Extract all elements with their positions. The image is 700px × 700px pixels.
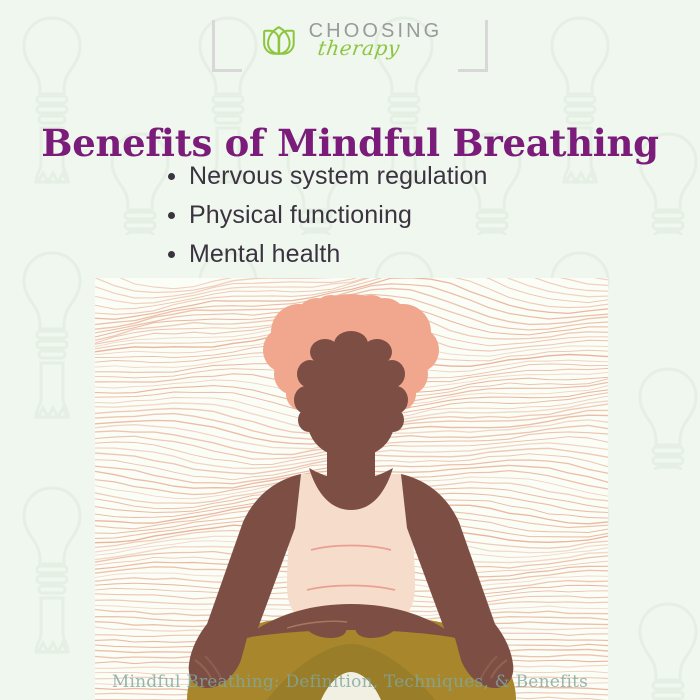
logo-word-therapy: therapy bbox=[316, 38, 401, 58]
bracket-left-horizontal bbox=[212, 69, 242, 72]
infographic-canvas: CHOOSING therapy Benefits of Mindful Bre… bbox=[0, 0, 700, 700]
list-item-label: Nervous system regulation bbox=[189, 160, 487, 193]
meditation-illustration bbox=[95, 278, 608, 700]
list-item-label: Mental health bbox=[189, 238, 340, 271]
benefits-list: Nervous system regulation Physical funct… bbox=[168, 160, 487, 277]
bullet-dot-icon bbox=[168, 173, 175, 180]
list-item: Physical functioning bbox=[168, 199, 487, 232]
logo-block[interactable]: CHOOSING therapy bbox=[224, 18, 477, 60]
image-caption: Mindful Breathing: Definition, Technique… bbox=[0, 672, 700, 692]
list-item: Nervous system regulation bbox=[168, 160, 487, 193]
list-item: Mental health bbox=[168, 238, 487, 271]
bracket-left-vertical bbox=[212, 20, 215, 72]
bullet-dot-icon bbox=[168, 251, 175, 258]
bracket-right-vertical bbox=[485, 20, 488, 72]
bracket-left-decoration bbox=[212, 20, 244, 72]
logo-wordmark: CHOOSING therapy bbox=[309, 21, 443, 58]
bracket-right-horizontal bbox=[458, 69, 488, 72]
bracket-right-decoration bbox=[456, 20, 488, 72]
list-item-label: Physical functioning bbox=[189, 199, 412, 232]
lotus-leaf-icon bbox=[258, 18, 300, 60]
brand-header: CHOOSING therapy bbox=[0, 0, 700, 78]
page-title: Benefits of Mindful Breathing bbox=[0, 121, 700, 165]
bullet-dot-icon bbox=[168, 212, 175, 219]
